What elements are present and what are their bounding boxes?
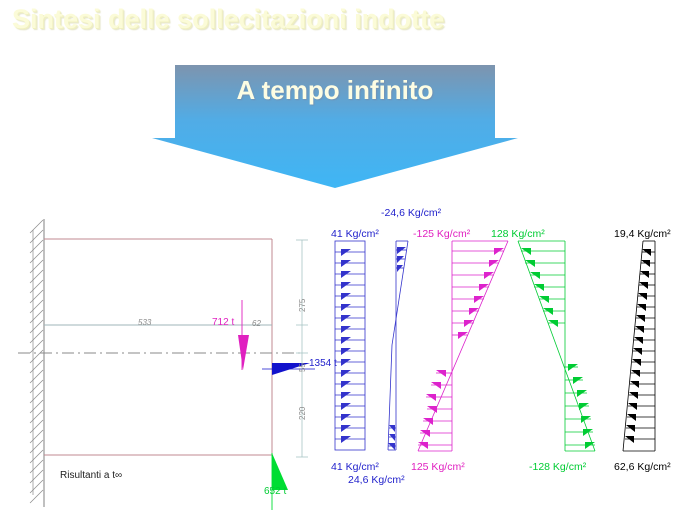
frame-note: Risultanti a t∞ [60, 470, 122, 481]
dim-55-label: 55 [298, 363, 307, 372]
diagram-bowtie-blue [388, 241, 408, 450]
diagram-bowtie-blue-top-label: -24,6 Kg/cm² [381, 207, 441, 219]
diagram-uniform-blue-bottom-label: 41 Kg/cm² [331, 461, 379, 473]
banner-label: A tempo infinito [150, 75, 520, 106]
dim-533-label: 533 [138, 318, 151, 327]
diagram-black-top-label: 19,4 Kg/cm² [614, 228, 671, 240]
diagram-magenta-bottom-label: 125 Kg/cm² [411, 461, 465, 473]
dim-62-label: 62 [252, 319, 261, 328]
force-1354-label: 1354 t [309, 358, 337, 369]
dim-275-label: 275 [298, 299, 307, 312]
wall-hatching [30, 220, 43, 503]
diagram-triangular-green [518, 241, 595, 451]
dim-220-label: 220 [298, 407, 307, 420]
diagram-magenta-top-label: -125 Kg/cm² [413, 228, 470, 240]
page-title: Sintesi delle sollecitazioni indotte [12, 4, 672, 38]
dimension-chain [296, 240, 308, 457]
diagram-green-bottom-label: -128 Kg/cm² [529, 461, 586, 473]
diagram-trapezoid-black [623, 241, 655, 451]
diagram-uniform-blue-top-label: 41 Kg/cm² [331, 228, 379, 240]
diagram-triangular-magenta [418, 241, 508, 451]
diagram-green-top-label: 128 Kg/cm² [491, 228, 545, 240]
force-712-label: 712 t [212, 317, 234, 328]
slide-canvas: Sintesi delle sollecitazioni indotte A t… [0, 0, 700, 525]
diagram-uniform-blue [335, 241, 365, 450]
diagram-black-bottom-label: 62,6 Kg/cm² [614, 461, 671, 473]
slab-outline [44, 239, 272, 455]
force-652-arrow [272, 453, 288, 490]
diagram-bowtie-blue-bottom-label: 24,6 Kg/cm² [348, 474, 405, 486]
force-652-label: 652 t [264, 486, 286, 497]
